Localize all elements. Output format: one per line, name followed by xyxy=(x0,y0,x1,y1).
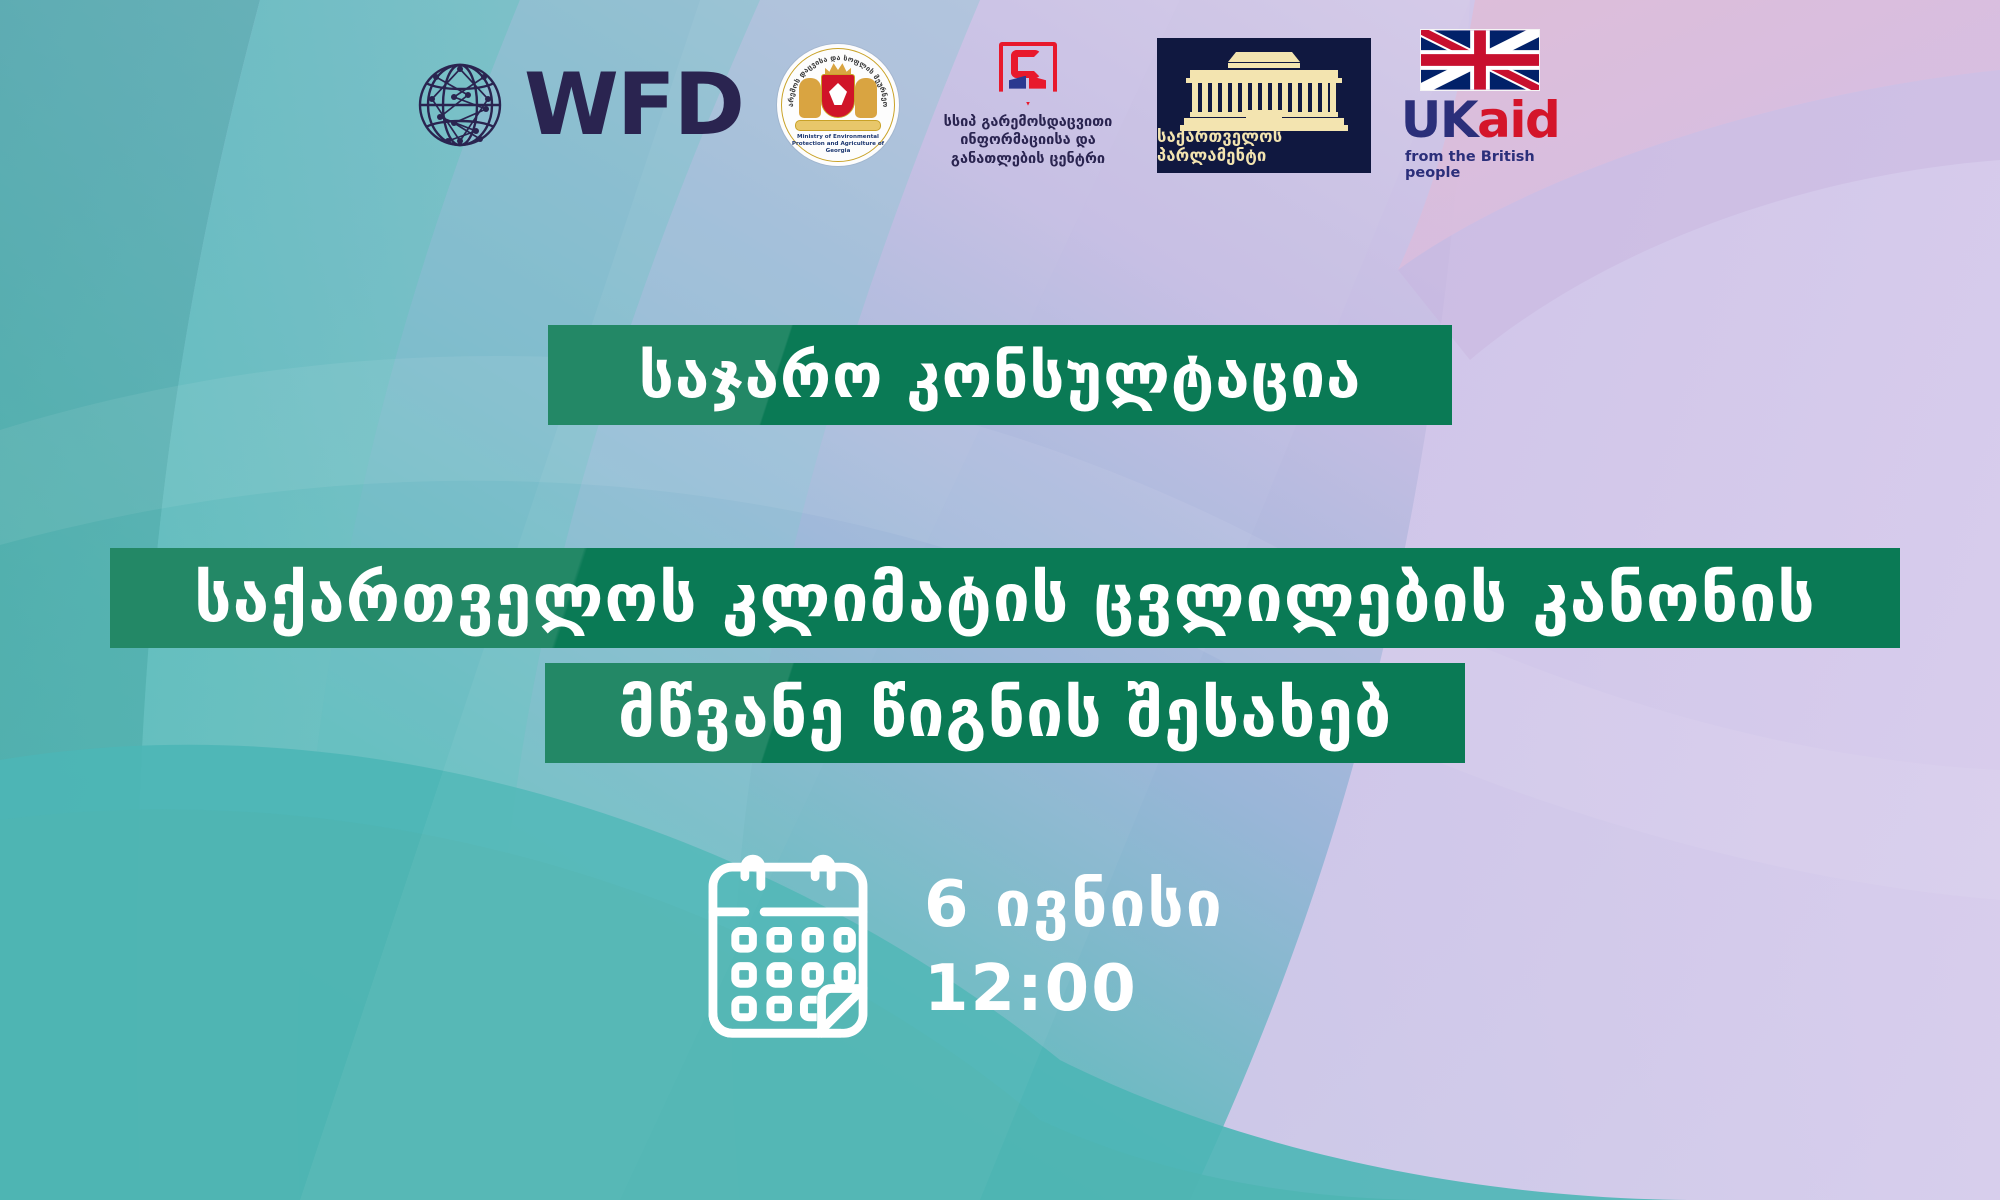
eic-label-line-2: ინფორმაციისა და xyxy=(944,131,1113,150)
lion-left-icon xyxy=(799,78,821,118)
logo-ukaid: UKaid from the British people xyxy=(1405,29,1555,181)
logo-parliament-of-georgia: საქართველოს პარლამენტი xyxy=(1157,38,1371,173)
ukaid-tagline: from the British people xyxy=(1405,149,1555,181)
subtitle-text: საჯარო კონსულტაცია xyxy=(639,339,1362,412)
globe-icon xyxy=(410,55,510,155)
ukaid-wordmark: UKaid xyxy=(1401,95,1560,145)
title-banner-line-2: მწვანე წიგნის შესახებ xyxy=(545,663,1465,763)
logo-ministry-of-environment: საქართველოს გარემოს დაცვისა და სოფლის მე… xyxy=(777,44,899,166)
calendar-icon xyxy=(700,848,876,1046)
event-time: 12:00 xyxy=(924,947,1224,1031)
logo-environment-information-centre: სსიპ გარემოსდაცვითი ინფორმაციისა და განა… xyxy=(933,42,1123,169)
shield-icon xyxy=(821,74,855,118)
wfd-wordmark: WFD xyxy=(524,62,743,148)
motto-scroll xyxy=(795,120,881,131)
logo-strip: WFD საქართველოს გარემოს დაცვისა და სოფლი… xyxy=(410,30,1650,180)
poster-canvas: WFD საქართველოს გარემოს დაცვისა და სოფლი… xyxy=(0,0,2000,1200)
parliament-building-icon xyxy=(1176,52,1352,134)
ministry-english-name: Ministry of Environmental Protection and… xyxy=(791,134,885,154)
book-emblem-icon xyxy=(999,42,1057,106)
parliament-label: საქართველოს პარლამენტი xyxy=(1157,127,1371,165)
event-date: 6 ივნისი xyxy=(924,863,1224,947)
title-text-line-2: მწვანე წიგნის შესახებ xyxy=(618,675,1392,752)
ukaid-uk-text: UK xyxy=(1401,91,1477,149)
eic-label-line-1: სსიპ გარემოსდაცვითი xyxy=(944,113,1113,132)
ukaid-aid-text: aid xyxy=(1477,91,1559,149)
title-text-line-1: საქართველოს კლიმატის ცვლილების კანონის xyxy=(194,560,1816,637)
event-datetime: 6 ივნისი 12:00 xyxy=(700,848,1224,1046)
eic-label-line-3: განათლების ცენტრი xyxy=(944,150,1113,169)
title-banner-line-1: საქართველოს კლიმატის ცვლილების კანონის xyxy=(110,548,1900,648)
datetime-text: 6 ივნისი 12:00 xyxy=(924,863,1224,1032)
union-jack-icon xyxy=(1420,29,1540,91)
lion-right-icon xyxy=(855,78,877,118)
eic-label: სსიპ გარემოსდაცვითი ინფორმაციისა და განა… xyxy=(944,113,1113,169)
logo-wfd: WFD xyxy=(410,55,743,155)
subtitle-banner: საჯარო კონსულტაცია xyxy=(548,325,1452,425)
